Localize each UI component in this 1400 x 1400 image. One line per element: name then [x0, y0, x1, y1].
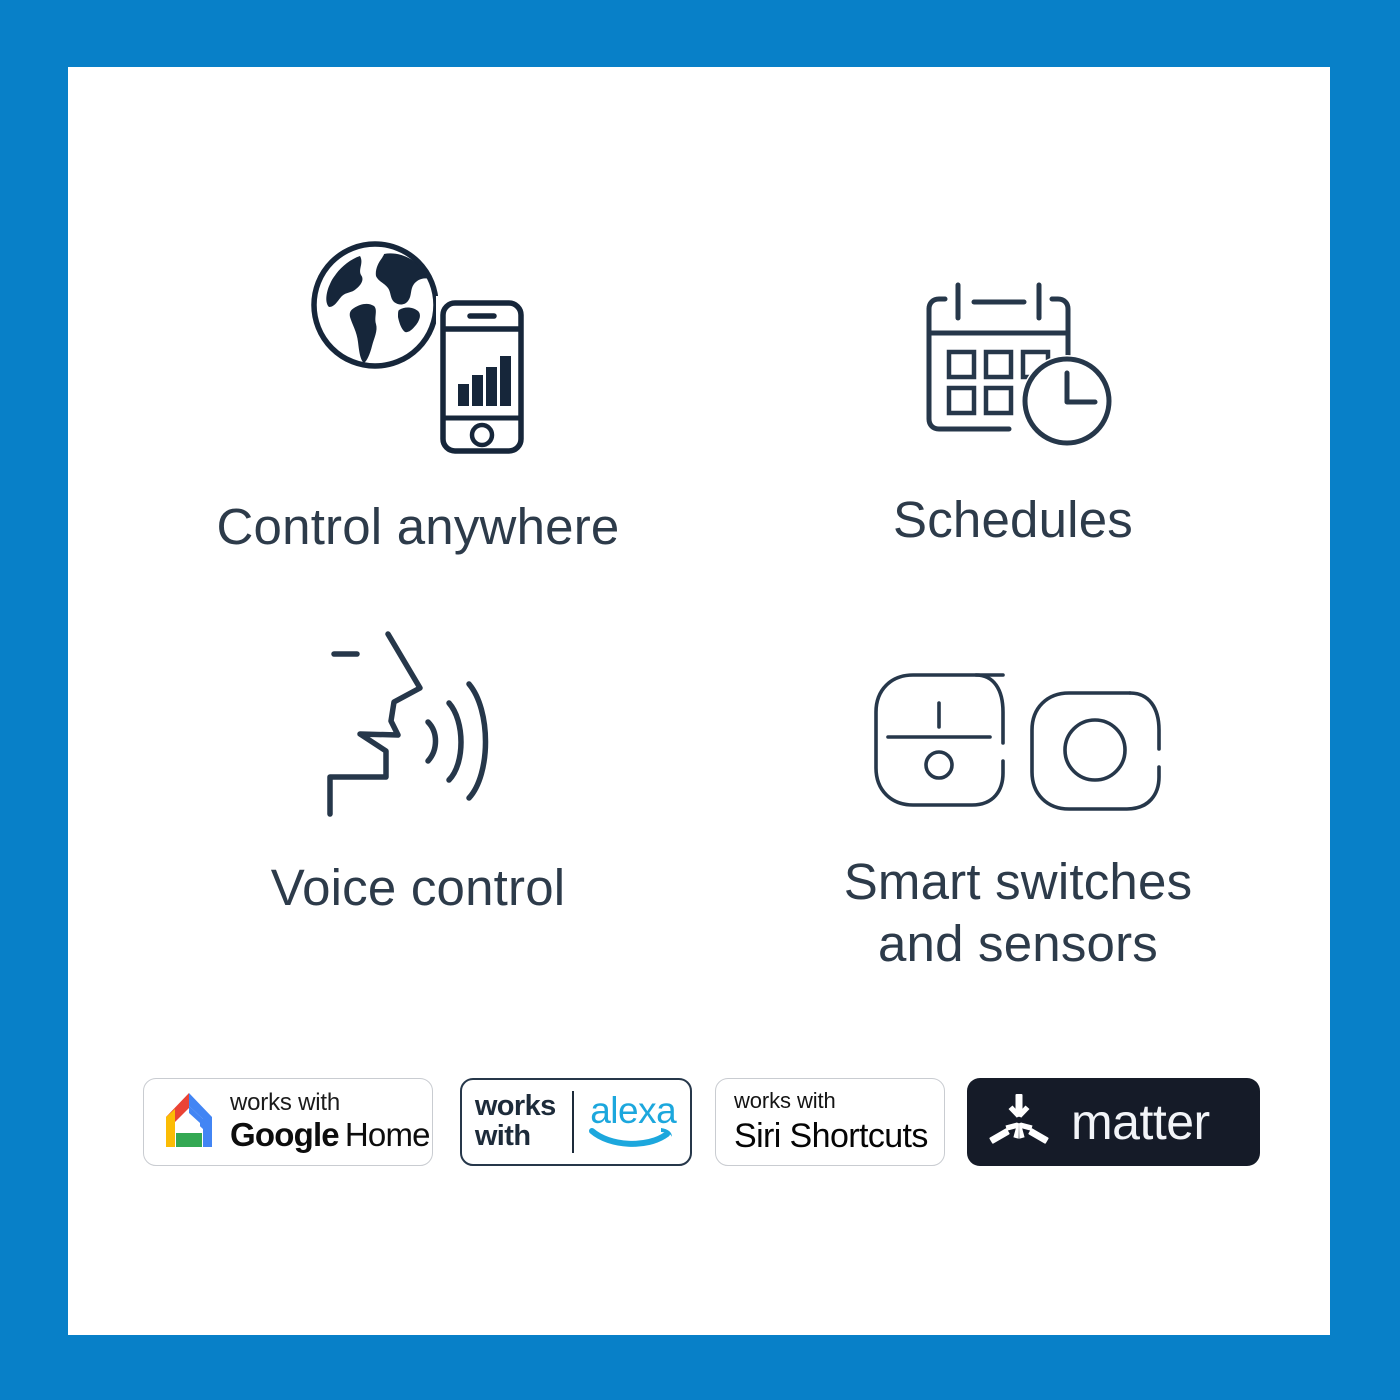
- feature-label: Voice control: [271, 857, 566, 919]
- google-wordmark: Google: [230, 1116, 339, 1153]
- feature-label: Smart switches and sensors: [844, 851, 1193, 975]
- siri-shortcuts-wordmark: Siri Shortcuts: [734, 1117, 928, 1155]
- feature-voice-control: Voice control: [198, 622, 638, 919]
- feature-schedules: Schedules: [798, 267, 1228, 551]
- compatibility-badges: works with GoogleHome works with alexa: [143, 1072, 1263, 1172]
- feature-control-anywhere: Control anywhere: [198, 232, 638, 558]
- matter-wordmark: matter: [1071, 1097, 1210, 1147]
- works-line-2: with: [475, 1120, 531, 1152]
- badge-brand-label: GoogleHome: [230, 1117, 430, 1153]
- calendar-clock-icon: [901, 267, 1126, 447]
- switch-and-sensor-icon: [868, 667, 1168, 813]
- badge-alexa[interactable]: works with alexa: [460, 1078, 692, 1166]
- badge-works-with-label: works with: [230, 1090, 430, 1115]
- feature-grid: Control anywhere: [68, 172, 1330, 1052]
- globe-and-phone-icon: [302, 232, 534, 462]
- matter-logo-icon: [989, 1090, 1049, 1155]
- badge-google-home[interactable]: works with GoogleHome: [143, 1078, 433, 1166]
- works-line-1: works: [475, 1090, 556, 1122]
- badge-works-with-label: works with: [475, 1092, 556, 1151]
- badge-matter[interactable]: matter: [967, 1078, 1260, 1166]
- amazon-smile-icon: [589, 1126, 677, 1153]
- home-wordmark: Home: [345, 1116, 430, 1153]
- poster-card: Control anywhere: [68, 67, 1330, 1335]
- google-home-house-icon: [160, 1089, 218, 1156]
- badge-divider: [572, 1091, 575, 1153]
- badge-siri-shortcuts[interactable]: works with Siri Shortcuts: [715, 1078, 945, 1166]
- feature-label: Control anywhere: [217, 496, 620, 558]
- badge-works-with-label: works with: [734, 1089, 928, 1113]
- feature-label: Schedules: [893, 489, 1133, 551]
- feature-smart-switches-and-sensors: Smart switches and sensors: [798, 667, 1238, 975]
- alexa-wordmark: alexa: [590, 1092, 676, 1129]
- speaking-head-icon: [318, 622, 518, 827]
